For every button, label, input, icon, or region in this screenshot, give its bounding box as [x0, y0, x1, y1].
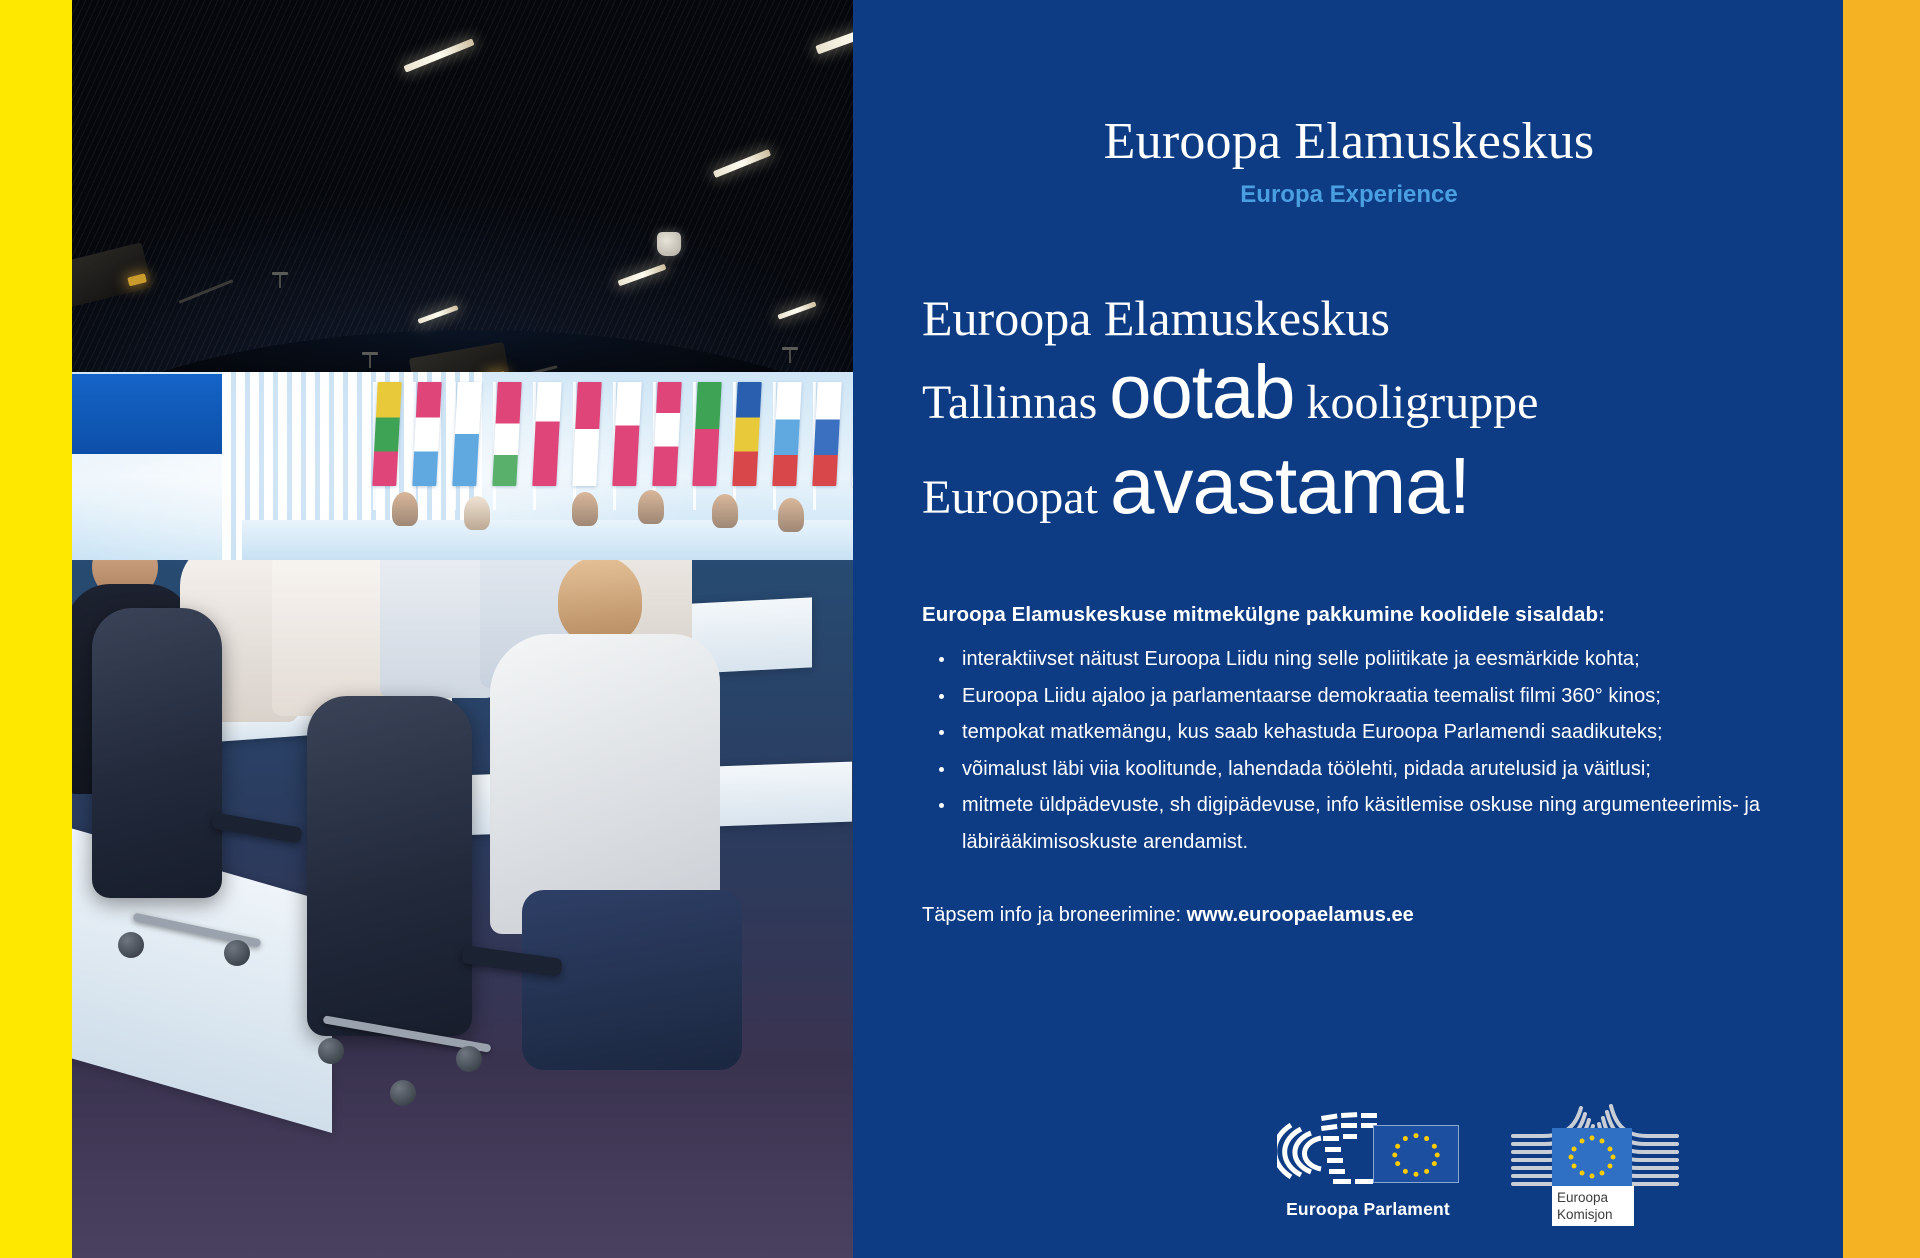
headline-line-2-post: kooligruppe [1306, 376, 1538, 429]
headline-emphasis-ootab: ootab [1109, 350, 1294, 435]
brand-subtitle: Europa Experience [922, 181, 1776, 209]
offer-bullet-list: interaktiivset näitust Euroopa Liidu nin… [922, 641, 1776, 860]
european-commission-label: Euroopa Komisjon [1552, 1186, 1634, 1226]
eu-flag-icon [1552, 1128, 1632, 1186]
smoke-detector-icon [657, 232, 681, 256]
headline-line-3: Euroopat avastama! [922, 445, 1776, 539]
chair-wheel [224, 940, 250, 966]
eu-flag-icon [1373, 1125, 1459, 1183]
booking-prefix: Täpsem info ja broneerimine: [922, 904, 1181, 926]
brand-title: Euroopa Elamuskeskus [922, 112, 1776, 171]
list-item: tempokat matkemängu, kus saab kehastuda … [922, 714, 1776, 751]
list-item-text: interaktiivset näitust Euroopa Liidu nin… [962, 648, 1640, 670]
list-item-text: Euroopa Liidu ajaloo ja parlamentaarse d… [962, 685, 1661, 707]
logo-row: Euroopa Parlament [1277, 1092, 1683, 1220]
right-amber-stripe [1843, 0, 1920, 1258]
commission-label-line-1: Euroopa [1557, 1189, 1634, 1206]
booking-line: Täpsem info ja broneerimine: www.euroopa… [922, 904, 1776, 927]
european-parliament-logo: Euroopa Parlament [1277, 1095, 1459, 1220]
european-parliament-label: Euroopa Parlament [1277, 1199, 1459, 1220]
hero-photo [72, 0, 853, 1258]
headline-line-1: Euroopa Elamuskeskus [922, 285, 1776, 351]
office-chair [92, 608, 222, 898]
bullet-dot-icon [939, 803, 944, 808]
content-panel: Euroopa Elamuskeskus Europa Experience E… [853, 0, 1920, 1258]
bullet-dot-icon [939, 730, 944, 735]
office-chair [307, 696, 472, 1036]
list-item-text: tempokat matkemängu, kus saab kehastuda … [962, 721, 1663, 743]
ceiling-fixture [369, 352, 371, 368]
headline-line-2: Tallinnas ootab kooligruppe [922, 351, 1776, 445]
list-item-text: mitmete üldpädevuste, sh digipädevuse, i… [962, 794, 1760, 853]
bullet-dot-icon [939, 767, 944, 772]
list-item: Euroopa Liidu ajaloo ja parlamentaarse d… [922, 678, 1776, 715]
ceiling-fixture [789, 347, 791, 363]
list-item: mitmete üldpädevuste, sh digipädevuse, i… [922, 787, 1776, 860]
headline-line-3-pre: Euroopat [922, 471, 1098, 524]
list-item: interaktiivset näitust Euroopa Liidu nin… [922, 641, 1776, 678]
poster: Euroopa Elamuskeskus Europa Experience E… [0, 0, 1920, 1258]
headline-line-2-pre: Tallinnas [922, 376, 1097, 429]
hemicycle-desk-row [242, 520, 853, 560]
offer-title: Euroopa Elamuskeskuse mitmekülgne pakkum… [922, 603, 1776, 627]
chair-wheel [318, 1038, 344, 1064]
list-item: võimalust läbi viia koolitunde, lahendad… [922, 751, 1776, 788]
european-commission-logo: Euroopa Komisjon [1507, 1092, 1683, 1220]
bullet-dot-icon [939, 657, 944, 662]
chair-wheel [390, 1080, 416, 1106]
chair-wheel [456, 1046, 482, 1072]
chair-wheel [118, 932, 144, 958]
ceiling-fixture [279, 272, 281, 288]
screen-blue-banner [72, 374, 222, 454]
headline-emphasis-avastama: avastama! [1110, 441, 1470, 530]
commission-label-line-2: Komisjon [1557, 1206, 1634, 1223]
flag-row [367, 382, 853, 512]
list-item-text: võimalust läbi viia koolitunde, lahendad… [962, 758, 1651, 780]
headline: Euroopa Elamuskeskus Tallinnas ootab koo… [922, 285, 1776, 539]
photo-foreground-audience [72, 560, 853, 1258]
bullet-dot-icon [939, 694, 944, 699]
booking-url[interactable]: www.euroopaelamus.ee [1187, 904, 1414, 926]
left-yellow-stripe [0, 0, 72, 1258]
